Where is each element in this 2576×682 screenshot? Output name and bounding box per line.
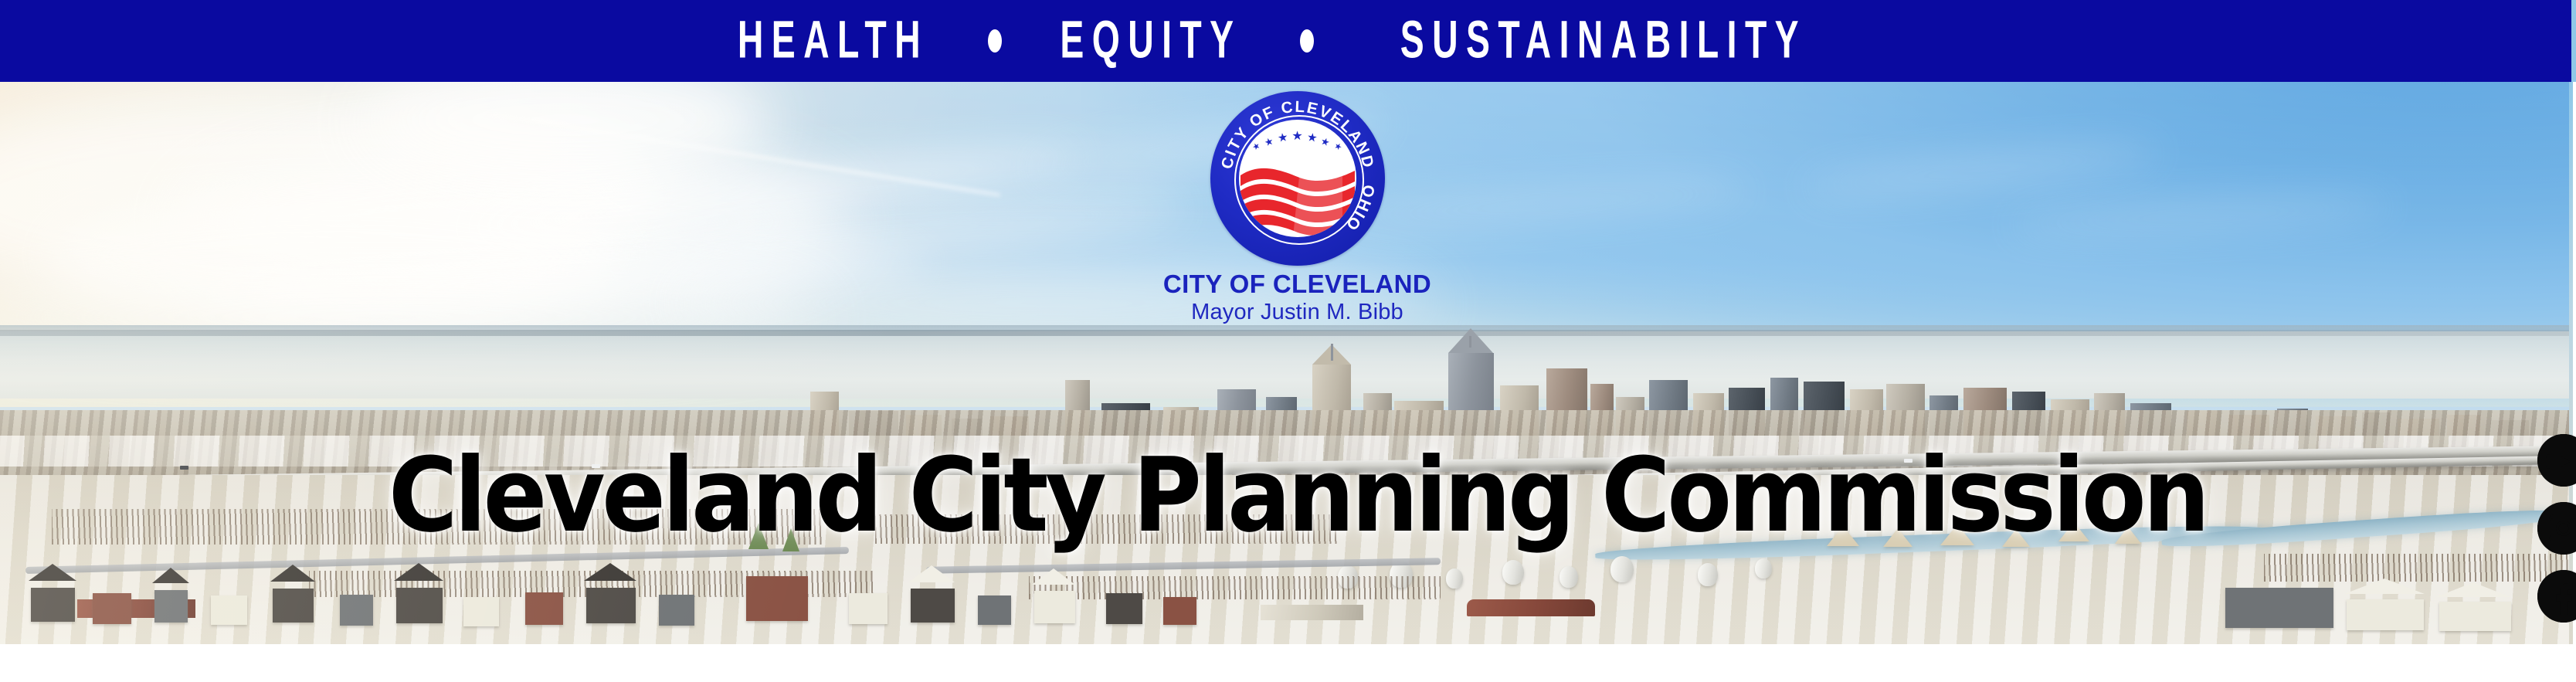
social-media-rail[interactable] [2537, 434, 2576, 623]
star-icon: ★ [1306, 131, 1318, 144]
house [396, 588, 443, 623]
house [340, 595, 373, 626]
storage-tank [1446, 568, 1463, 589]
page-title: Cleveland City Planning Commission [389, 445, 2207, 548]
industrial-warehouse [1467, 599, 1596, 616]
slogan-word-health: HEALTH [738, 14, 928, 66]
bullet-separator-icon [988, 29, 1002, 53]
industrial-warehouse [1261, 605, 1363, 620]
instagram-icon [2537, 502, 2576, 555]
slogan-inner: HEALTH EQUITY SUSTAINABILITY [714, 18, 1858, 63]
house [911, 589, 955, 623]
bullet-separator-icon [1300, 29, 1314, 53]
house [93, 593, 131, 624]
page-title-wrapper: Cleveland City Planning Commission [11, 448, 2576, 544]
apartment-building [2225, 588, 2333, 628]
house [586, 588, 635, 623]
bare-trees [2264, 554, 2573, 582]
townhouse-roof [2344, 579, 2425, 594]
terminal-tower-spire [1331, 344, 1333, 361]
star-icon: ★ [1277, 131, 1288, 144]
storage-tank [1755, 558, 1772, 579]
storage-tank [1560, 566, 1578, 588]
instagram-link[interactable] [2537, 502, 2576, 555]
house [273, 589, 314, 623]
waving-flag-icon [1239, 146, 1356, 237]
city-of-cleveland-seal-icon[interactable]: CITY OF CLEVELAND OHIO ★ ★ ★ ★ ★ ★ ★ [1210, 91, 1385, 266]
house [525, 592, 564, 625]
storage-tank [1698, 563, 1718, 586]
house-roof [270, 565, 315, 582]
townhouse-row [2439, 602, 2511, 631]
house [31, 588, 75, 622]
city-logo-block[interactable]: CITY OF CLEVELAND OHIO ★ ★ ★ ★ ★ ★ ★ [11, 91, 2576, 325]
slogan-word-equity: EQUITY [1060, 14, 1241, 66]
house [1163, 597, 1196, 625]
far-shoreline [0, 330, 2573, 336]
house [154, 590, 188, 623]
facebook-link[interactable] [2537, 570, 2576, 623]
house [978, 595, 1011, 625]
house [849, 593, 888, 624]
slogan-bar-right-edge [2571, 0, 2576, 82]
youtube-link[interactable] [2537, 434, 2576, 487]
church-building [746, 576, 808, 621]
youtube-icon [2537, 434, 2576, 487]
house [1106, 593, 1142, 624]
facebook-icon [2537, 570, 2576, 623]
house-roof [394, 563, 443, 581]
slogan-word-sustainability: SUSTAINABILITY [1400, 14, 1807, 66]
seal-inner-field: ★ ★ ★ ★ ★ ★ ★ [1239, 120, 1356, 237]
house-roof [584, 563, 636, 581]
house-roof [152, 568, 189, 583]
mayor-name-label: Mayor Justin M. Bibb [1191, 300, 1403, 325]
townhouse-roof [2436, 582, 2510, 597]
city-name-label: CITY OF CLEVELAND [1163, 270, 1431, 298]
bottom-white-strip [0, 644, 2576, 682]
house-roof [908, 565, 955, 582]
house-roof [29, 564, 76, 581]
storage-tank [1502, 560, 1524, 585]
star-icon: ★ [1291, 131, 1302, 143]
storage-tank [1610, 556, 1634, 582]
house [211, 595, 247, 625]
house-roof [1032, 568, 1075, 585]
key-tower-spire [1469, 336, 1471, 348]
bare-trees [1029, 576, 1441, 599]
house [1034, 591, 1075, 623]
slogan-bar: HEALTH EQUITY SUSTAINABILITY [0, 0, 2571, 82]
house [463, 597, 500, 626]
house [659, 595, 695, 626]
townhouse-row [2347, 599, 2424, 630]
